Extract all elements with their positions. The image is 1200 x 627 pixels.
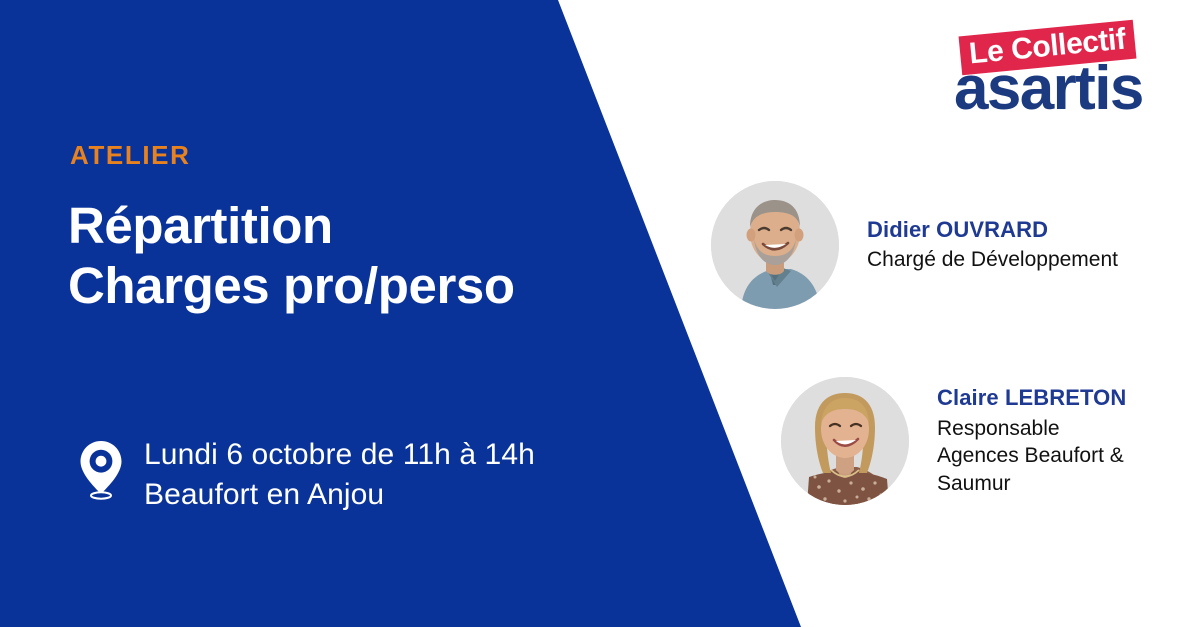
event-location-block: Lundi 6 octobre de 11h à 14h Beaufort en…: [78, 435, 535, 515]
logo-brand-label: asartis: [954, 58, 1143, 120]
speaker-name: Didier OUVRARD: [867, 216, 1118, 245]
avatar: [781, 377, 909, 505]
map-pin-icon: [78, 439, 124, 501]
speaker-info: Claire LEBRETON Responsable Agences Beau…: [937, 384, 1200, 498]
speaker-role: Chargé de Développement: [867, 246, 1118, 274]
speaker-name: Claire LEBRETON: [937, 384, 1200, 413]
speaker-info: Didier OUVRARD Chargé de Développement: [867, 216, 1118, 274]
speaker-card-1: Didier OUVRARD Chargé de Développement: [711, 181, 1118, 309]
event-location-text: Lundi 6 octobre de 11h à 14h Beaufort en…: [144, 435, 535, 515]
speaker-card-2: Claire LEBRETON Responsable Agences Beau…: [781, 377, 1200, 505]
speaker-role: Responsable Agences Beaufort & Saumur: [937, 415, 1200, 498]
event-kicker: ATELIER: [70, 142, 191, 168]
event-banner: ATELIER Répartition Charges pro/perso Lu…: [0, 0, 1200, 627]
avatar: [711, 181, 839, 309]
event-title: Répartition Charges pro/perso: [68, 196, 515, 315]
asartis-logo: Le Collectif asartis: [952, 26, 1172, 124]
